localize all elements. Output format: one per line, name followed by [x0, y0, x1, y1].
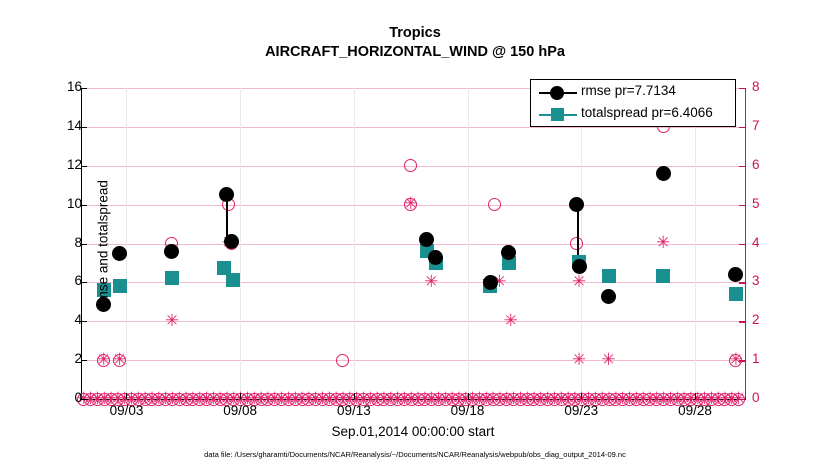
rmse-data-point: [569, 197, 584, 212]
x-axis-tick-label: 09/28: [665, 403, 725, 418]
x-axis-tick-mark: [468, 393, 469, 399]
plot-frame-right: [745, 88, 746, 399]
plot-area: ✳✳✳✳✳✳✳✳✳✳✳✳✳✳✳✳✳✳✳✳✳✳✳✳✳✳✳✳✳✳✳✳✳✳✳✳✳✳✳✳…: [81, 88, 745, 399]
y-axis-left-tick-mark: [81, 282, 87, 283]
legend-marker-square-icon: [551, 108, 564, 121]
y-axis-left-tick-label: 4: [42, 312, 82, 327]
chart-title: Tropics: [0, 24, 830, 43]
y-axis-right-tick-mark: [739, 321, 745, 322]
y-axis-right-tick-mark: [739, 244, 745, 245]
y-axis-left-tick-mark: [81, 166, 87, 167]
chart-subtitle: AIRCRAFT_HORIZONTAL_WIND @ 150 hPa: [0, 43, 830, 62]
totalspread-data-point: [729, 287, 743, 301]
y-axis-right-tick-mark: [739, 360, 745, 361]
y-axis-right-tick-label: 8: [752, 79, 782, 94]
y-axis-right-tick-mark: [739, 88, 745, 89]
y-axis-left-tick-label: 10: [42, 196, 82, 211]
rmse-data-point: [428, 250, 443, 265]
x-axis-tick-mark: [581, 393, 582, 399]
y-axis-right-tick-label: 4: [752, 235, 782, 250]
legend-item-totalspread[interactable]: totalspread pr=6.4066: [531, 104, 737, 126]
totalspread-data-point: [656, 269, 670, 283]
rmse-data-point: [224, 234, 239, 249]
rmse-data-point: [501, 245, 516, 260]
rmse-data-point: [728, 267, 743, 282]
chart-title-block: Tropics AIRCRAFT_HORIZONTAL_WIND @ 150 h…: [0, 24, 830, 62]
y-axis-right-tick-label: 6: [752, 157, 782, 172]
y-axis-left-tick-label: 16: [42, 79, 82, 94]
rmse-data-point: [219, 187, 234, 202]
chart-figure: Tropics AIRCRAFT_HORIZONTAL_WIND @ 150 h…: [0, 0, 830, 470]
legend-item-rmse[interactable]: rmse pr=7.7134: [531, 82, 737, 104]
x-axis-tick-mark: [695, 393, 696, 399]
y-axis-left-tick-mark: [81, 399, 87, 400]
rmse-data-point: [656, 166, 671, 181]
y-axis-right-tick-mark: [739, 127, 745, 128]
y-axis-right-tick-label: 3: [752, 273, 782, 288]
y-axis-left-tick-mark: [81, 321, 87, 322]
data-series-layer: [81, 88, 745, 399]
y-axis-left-tick-mark: [81, 88, 87, 89]
y-axis-left-tick-mark: [81, 205, 87, 206]
x-axis-tick-label: 09/18: [438, 403, 498, 418]
y-axis-left-tick-label: 2: [42, 351, 82, 366]
data-file-footer: data file: /Users/gharamti/Documents/NCA…: [0, 450, 830, 459]
y-axis-right-tick-label: 2: [752, 312, 782, 327]
rmse-data-point: [483, 275, 498, 290]
y-axis-left-tick-label: 8: [42, 235, 82, 250]
y-axis-right-tick-label: 5: [752, 196, 782, 211]
y-axis-left-tick-mark: [81, 244, 87, 245]
x-axis-tick-label: 09/13: [324, 403, 384, 418]
x-axis-tick-label: 09/08: [210, 403, 270, 418]
totalspread-data-point: [165, 271, 179, 285]
rmse-data-point: [112, 246, 127, 261]
totalspread-data-point: [113, 279, 127, 293]
x-axis-tick-mark: [126, 393, 127, 399]
rmse-data-point: [572, 259, 587, 274]
totalspread-data-point: [602, 269, 616, 283]
y-axis-right-tick-label: 0: [752, 390, 782, 405]
y-axis-right-tick-mark: [739, 166, 745, 167]
y-axis-left-tick-label: 0: [42, 390, 82, 405]
x-axis-tick-label: 09/23: [551, 403, 611, 418]
legend-label-totalspread: totalspread pr=6.4066: [581, 105, 713, 120]
legend-label-rmse: rmse pr=7.7134: [581, 83, 676, 98]
y-axis-right-tick-mark: [739, 205, 745, 206]
y-axis-right-tick-mark: [739, 399, 745, 400]
y-axis-right-tick-mark: [739, 282, 745, 283]
chart-legend[interactable]: rmse pr=7.7134 totalspread pr=6.4066: [530, 79, 736, 127]
y-axis-left-tick-label: 6: [42, 273, 82, 288]
x-axis-label: Sep.01,2014 00:00:00 start: [81, 424, 745, 439]
legend-marker-circle-icon: [550, 86, 564, 100]
y-axis-right-tick-label: 7: [752, 118, 782, 133]
y-axis-left-tick-label: 14: [42, 118, 82, 133]
y-axis-left-tick-mark: [81, 127, 87, 128]
rmse-data-point: [96, 297, 111, 312]
x-axis-tick-mark: [240, 393, 241, 399]
rmse-data-point: [164, 244, 179, 259]
y-axis-right-tick-label: 1: [752, 351, 782, 366]
totalspread-data-point: [226, 273, 240, 287]
x-axis-tick-label: 09/03: [96, 403, 156, 418]
y-axis-left-tick-mark: [81, 360, 87, 361]
y-axis-left-tick-label: 12: [42, 157, 82, 172]
rmse-data-point: [601, 289, 616, 304]
totalspread-data-point: [97, 283, 111, 297]
x-axis-tick-mark: [354, 393, 355, 399]
